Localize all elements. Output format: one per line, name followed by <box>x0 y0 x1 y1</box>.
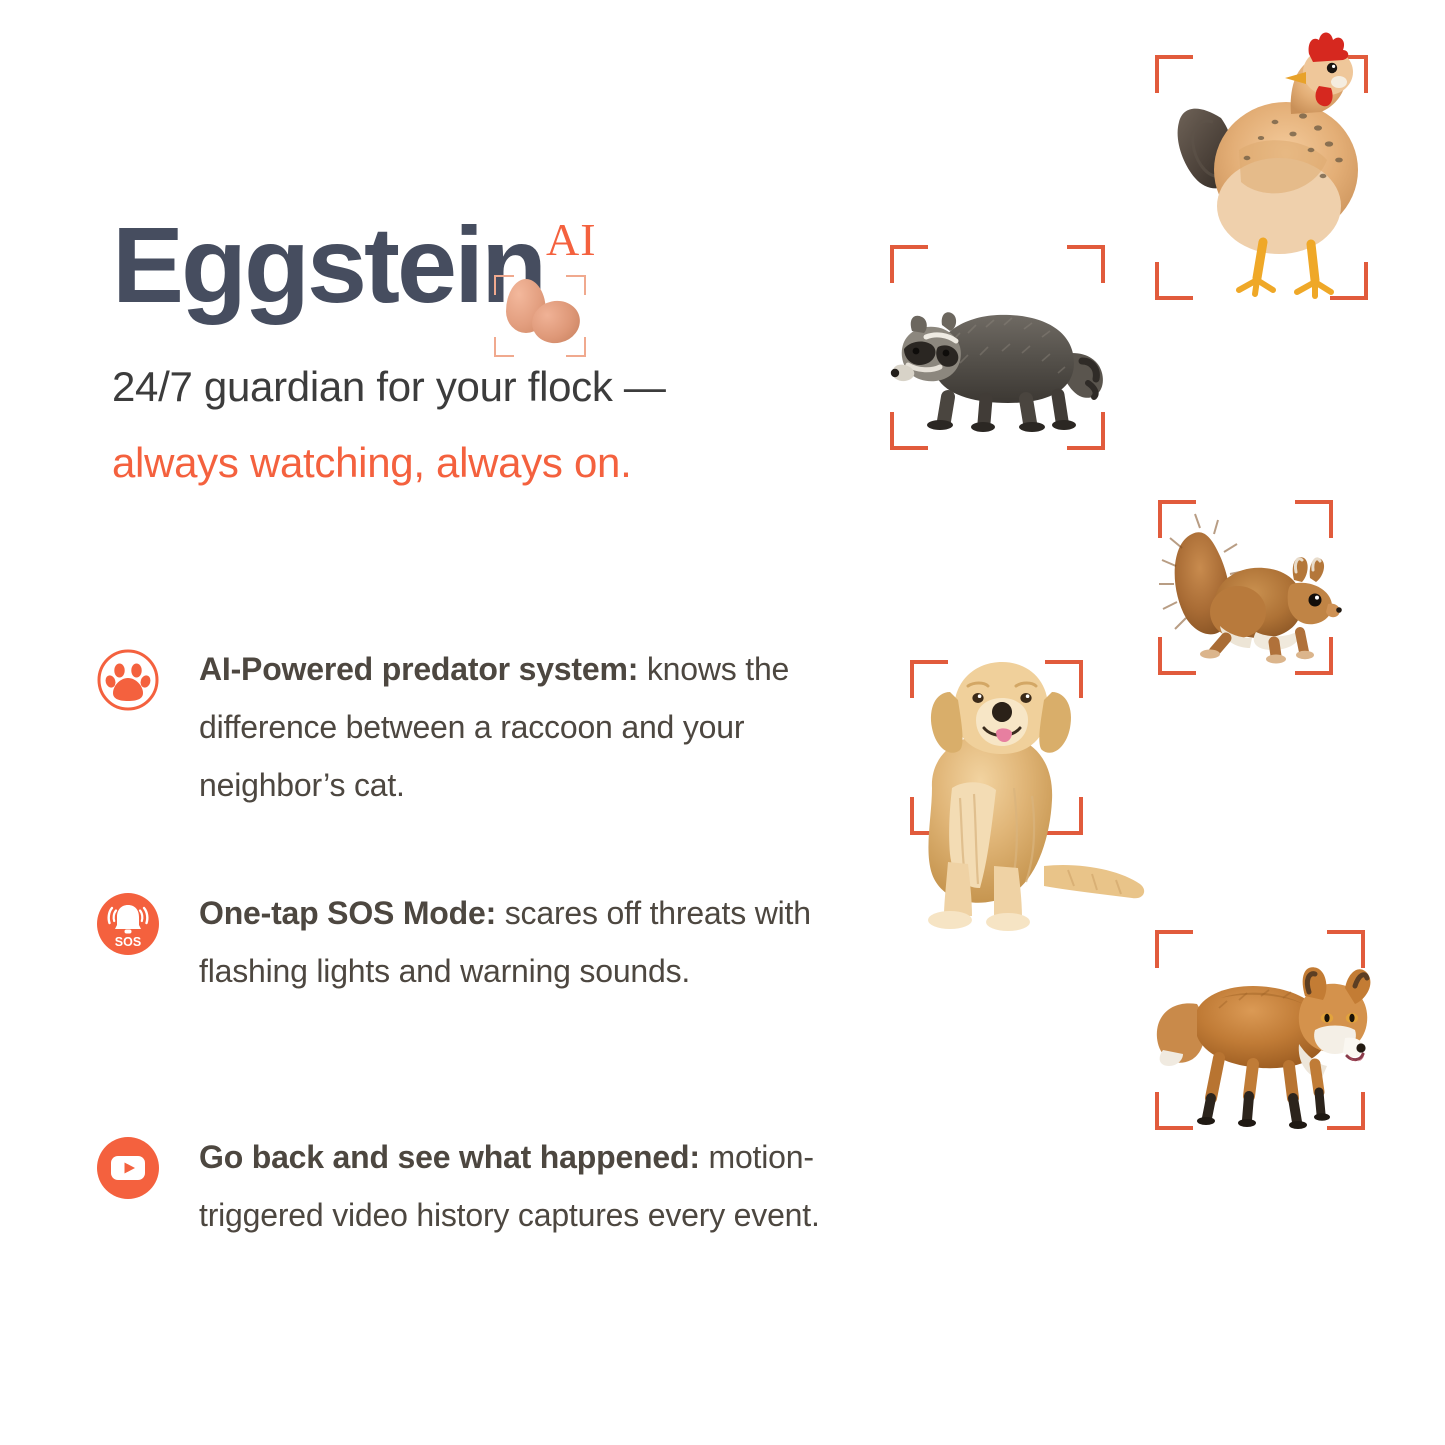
feature-title: AI-Powered predator system: <box>199 651 638 687</box>
tagline-line-2: always watching, always on. <box>112 432 812 494</box>
fox-photo <box>1149 938 1384 1138</box>
tagline: 24/7 guardian for your flock — always wa… <box>112 356 812 494</box>
list-item: SOS One-tap SOS Mode: scares off threats… <box>96 884 836 1084</box>
brand-superscript-ai: AI <box>546 217 597 263</box>
feature-title: One-tap SOS Mode: <box>199 895 496 931</box>
sos-alarm-bell-icon: SOS <box>96 892 160 956</box>
feature-title: Go back and see what happened: <box>199 1139 700 1175</box>
feature-text: Go back and see what happened: motion-tr… <box>199 1128 836 1244</box>
egg-art <box>502 279 580 353</box>
chicken-photo <box>1143 10 1393 310</box>
detection-box-dog <box>910 660 1083 835</box>
brand-lockup: EggsteinAI <box>112 205 752 325</box>
detection-box-squirrel <box>1158 500 1333 675</box>
detected-animals-column <box>850 0 1445 1445</box>
tagline-line-1: 24/7 guardian for your flock — <box>112 356 812 418</box>
raccoon-photo <box>882 255 1122 445</box>
feature-text: AI-Powered predator system: knows the di… <box>199 640 836 814</box>
brand-line: EggsteinAI <box>112 205 752 325</box>
squirrel-photo <box>1152 482 1352 697</box>
golden-retriever-photo <box>868 638 1158 948</box>
detection-box-chicken <box>1155 55 1368 300</box>
video-playback-icon <box>96 1136 160 1200</box>
page-title: Eggstein <box>112 205 544 325</box>
egg-photo-icon <box>494 275 586 357</box>
sos-icon-label: SOS <box>115 935 141 949</box>
promo-poster: EggsteinAI 24/7 guardian for your flock … <box>0 0 1445 1445</box>
feature-text: One-tap SOS Mode: scares off threats wit… <box>199 884 836 1000</box>
detection-box-fox <box>1155 930 1365 1130</box>
paw-print-icon <box>96 648 160 712</box>
detection-box-raccoon <box>890 245 1105 450</box>
feature-list: AI-Powered predator system: knows the di… <box>96 640 836 1328</box>
list-item: Go back and see what happened: motion-tr… <box>96 1128 836 1328</box>
content-column: EggsteinAI 24/7 guardian for your flock … <box>0 0 850 1445</box>
list-item: AI-Powered predator system: knows the di… <box>96 640 836 840</box>
